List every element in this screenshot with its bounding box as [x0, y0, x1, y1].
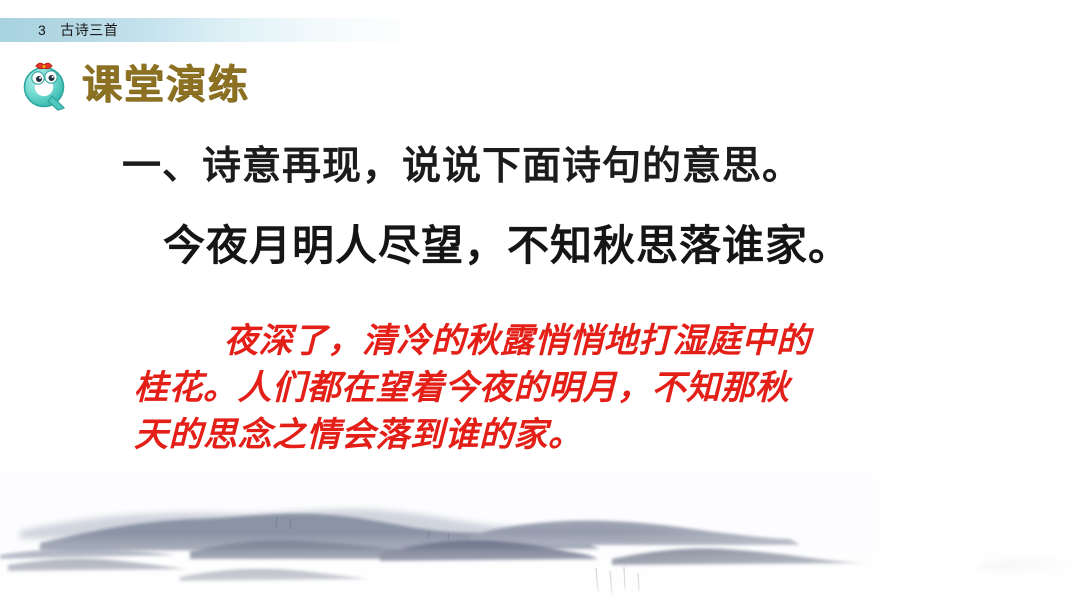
- answer-paragraph: 夜深了，清冷的秋露悄悄地打湿庭中的 桂花。人们都在望着今夜的明月，不知那秋 天的…: [134, 318, 964, 459]
- section-title: 课堂演练: [82, 63, 250, 107]
- ink-wash-landscape: [0, 473, 1080, 608]
- answer-line: 桂花。人们都在望着今夜的明月，不知那秋: [134, 365, 964, 412]
- poem-text: 今夜月明人尽望，不知秋思落谁家。: [163, 219, 851, 275]
- lesson-title: 古诗三首: [60, 22, 118, 38]
- section-title-row: 课堂演练: [18, 57, 250, 113]
- lesson-number: 3: [38, 22, 46, 38]
- question-text: 一、诗意再现，说说下面诗句的意思。: [122, 141, 802, 193]
- q-mascot-icon: [18, 58, 72, 112]
- slide-canvas: 3古诗三首: [0, 0, 1080, 608]
- breadcrumb: 3古诗三首: [38, 19, 118, 41]
- answer-line: 夜深了，清冷的秋露悄悄地打湿庭中的: [134, 318, 964, 365]
- answer-line: 天的思念之情会落到谁的家。: [134, 412, 964, 459]
